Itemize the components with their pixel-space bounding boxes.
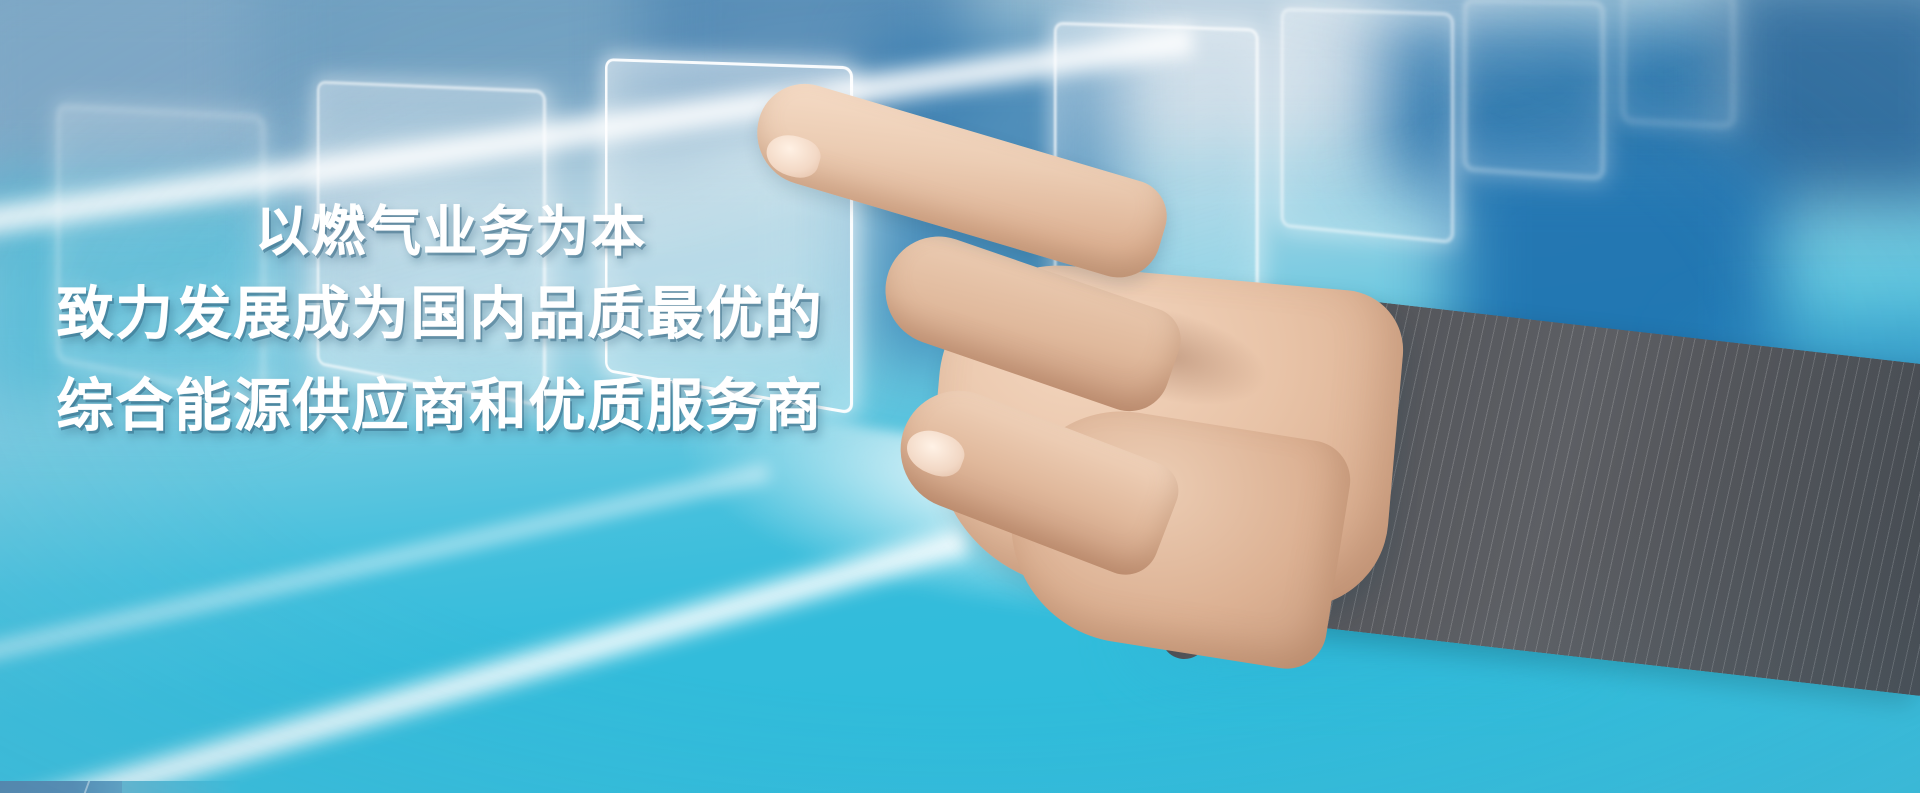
promo-banner: 以燃气业务为本 致力发展成为国内品质最优的 综合能源供应商和优质服务商: [0, 0, 1920, 793]
slogan-line-2: 致力发展成为国内品质最优的: [0, 268, 880, 360]
bottom-accent-strip: [0, 781, 122, 793]
slogan-line-3: 综合能源供应商和优质服务商: [0, 360, 880, 452]
slogan-line-1: 以燃气业务为本: [0, 196, 880, 268]
bottom-accent-strip-light: [122, 781, 240, 793]
pointing-hand: [760, 120, 1920, 680]
glass-panel: [1622, 0, 1735, 128]
slogan-block: 以燃气业务为本 致力发展成为国内品质最优的 综合能源供应商和优质服务商: [0, 196, 880, 452]
